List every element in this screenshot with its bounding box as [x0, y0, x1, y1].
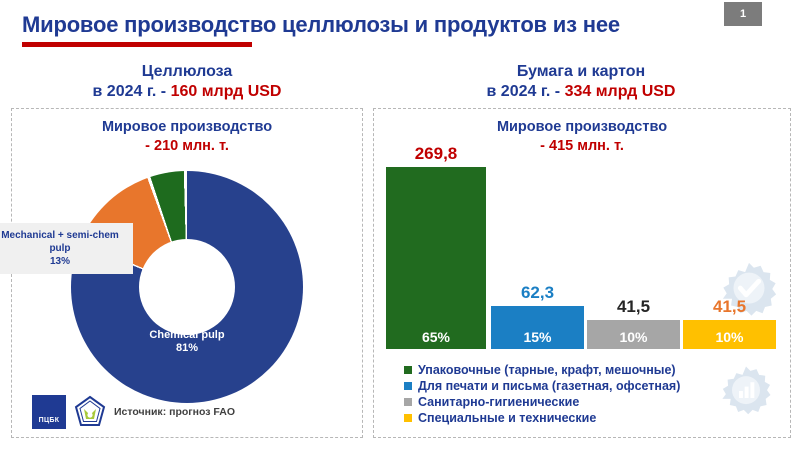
bar-column-sanitary: 41,5 10%: [587, 320, 680, 349]
bar-value-sanitary: 41,5: [587, 297, 680, 317]
quality-emblem-icon: [73, 395, 107, 429]
source-note: Источник: прогноз FAO: [114, 406, 235, 418]
bar-value-special: 41,5: [683, 297, 776, 317]
year-of-quality-logo: [73, 395, 107, 429]
legend-item-sanitary: Санитарно-гигиенические: [404, 395, 680, 409]
left-header-year: в 2024 г. -: [93, 83, 167, 100]
bar-column-printing: 62,3 15%: [491, 306, 584, 349]
gear-bars-icon: [718, 363, 774, 419]
right-section-header: Бумага и картон в 2024 г. - 334 млрд USD: [373, 62, 789, 102]
left-panel-title: Мировое производство - 210 млн. т.: [12, 118, 362, 156]
legend-item-packaging: Упаковочные (тарные, крафт, мешочные): [404, 363, 680, 377]
title-underline: [22, 42, 252, 47]
legend-label-printing: Для печати и письма (газетная, офсетная): [418, 379, 680, 393]
left-section-header: Целлюлоза в 2024 г. - 160 млрд USD: [11, 62, 363, 102]
bar-rect-printing: 15%: [491, 306, 584, 349]
pcbk-logo: ПЦБК: [32, 395, 66, 429]
left-header-title: Целлюлоза: [11, 62, 363, 82]
pulp-donut-chart: Chemical pulp 81% Other 6% Mechanical + …: [71, 171, 303, 403]
paper-bar-chart: 269,8 65% 62,3 15% 41,5 10% 41,5: [386, 159, 778, 349]
legend-item-special: Специальные и технические: [404, 411, 680, 425]
bar-rect-sanitary: 10%: [587, 320, 680, 349]
right-header-amount-line: в 2024 г. - 334 млрд USD: [373, 82, 789, 102]
pulp-donut-panel: Мировое производство - 210 млн. т. Chemi…: [11, 108, 363, 438]
slide-number-badge: 1: [724, 2, 762, 26]
legend-swatch-special-icon: [404, 414, 412, 422]
donut-label-chemical-pulp: Chemical pulp 81%: [117, 329, 257, 354]
paper-bar-panel: Мировое производство - 415 млн. т. 269,8…: [373, 108, 791, 438]
donut-label-chemical-value: 81%: [176, 342, 198, 354]
left-panel-footer: ПЦБК Источник: прогноз FAO: [32, 395, 235, 429]
legend-label-sanitary: Санитарно-гигиенические: [418, 395, 579, 409]
legend-swatch-sanitary-icon: [404, 398, 412, 406]
legend-label-packaging: Упаковочные (тарные, крафт, мешочные): [418, 363, 676, 377]
bar-share-special: 10%: [715, 329, 743, 345]
donut-label-mechanical-name: Mechanical + semi-chem pulp: [1, 230, 119, 254]
right-header-title: Бумага и картон: [373, 62, 789, 82]
pcbk-logo-text: ПЦБК: [39, 417, 60, 424]
bar-column-special: 41,5 10%: [683, 320, 776, 349]
left-panel-title-text: Мировое производство: [102, 119, 272, 135]
bar-share-printing: 15%: [523, 329, 551, 345]
slide-root: 1 Мировое производство целлюлозы и проду…: [0, 0, 800, 450]
left-panel-total: - 210 млн. т.: [12, 137, 362, 156]
bar-share-sanitary: 10%: [619, 329, 647, 345]
donut-label-mechanical-value: 13%: [50, 256, 70, 267]
donut-label-chemical-name: Chemical pulp: [149, 329, 224, 341]
page-title: Мировое производство целлюлозы и продукт…: [22, 12, 620, 38]
bar-value-printing: 62,3: [491, 283, 584, 303]
bar-rect-special: 10%: [683, 320, 776, 349]
legend-swatch-printing-icon: [404, 382, 412, 390]
legend-swatch-packaging-icon: [404, 366, 412, 374]
donut-hole: [139, 239, 235, 335]
bar-chart-legend: Упаковочные (тарные, крафт, мешочные) Дл…: [404, 363, 680, 427]
right-panel-title-text: Мировое производство: [497, 119, 667, 135]
right-header-year: в 2024 г. -: [487, 83, 561, 100]
donut-label-mechanical-pulp: Mechanical + semi-chem pulp 13%: [0, 223, 133, 274]
left-header-amount: 160 млрд USD: [171, 83, 282, 100]
bar-column-packaging: 269,8 65%: [386, 167, 486, 349]
right-header-amount: 334 млрд USD: [565, 83, 676, 100]
left-header-amount-line: в 2024 г. - 160 млрд USD: [11, 82, 363, 102]
bar-rect-packaging: 65%: [386, 167, 486, 349]
legend-item-printing: Для печати и письма (газетная, офсетная): [404, 379, 680, 393]
legend-label-special: Специальные и технические: [418, 411, 596, 425]
bar-share-packaging: 65%: [422, 329, 450, 345]
bar-value-packaging: 269,8: [386, 144, 486, 164]
